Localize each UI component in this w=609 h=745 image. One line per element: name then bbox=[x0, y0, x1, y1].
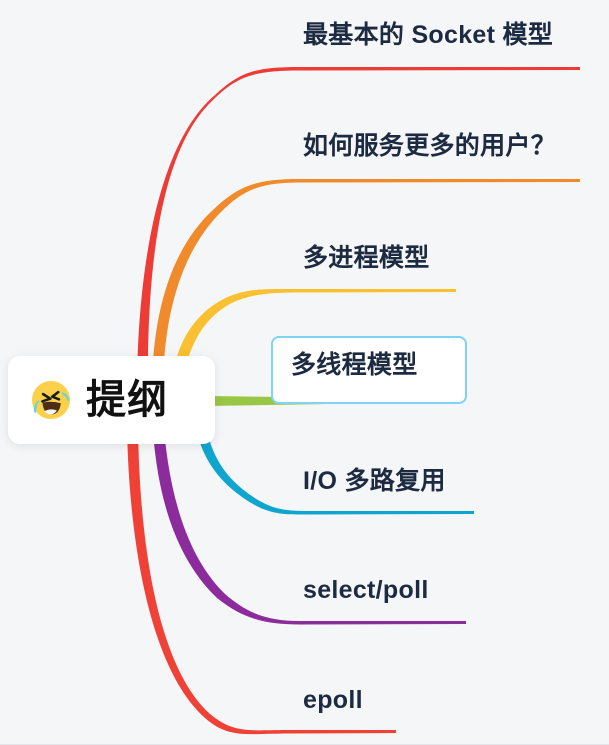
mindmap-node-multi-thread-model-selected[interactable]: 多线程模型 bbox=[271, 336, 467, 404]
mindmap-node-select-poll[interactable]: select/poll bbox=[303, 577, 429, 605]
mindmap-node-multi-process-model[interactable]: 多进程模型 bbox=[303, 245, 430, 273]
mindmap-root-node[interactable]: 提纲 bbox=[8, 356, 215, 444]
mindmap-canvas[interactable]: 最基本的 Socket 模型 如何服务更多的用户？ 多进程模型 多线程模型 I/… bbox=[0, 0, 609, 745]
branch-curve-5 bbox=[194, 415, 474, 515]
mindmap-node-epoll[interactable]: epoll bbox=[303, 687, 363, 715]
mindmap-node-io-multiplexing[interactable]: I/O 多路复用 bbox=[303, 468, 446, 496]
mindmap-node-socket-model[interactable]: 最基本的 Socket 模型 bbox=[303, 22, 553, 50]
mindmap-node-multi-thread-model-label: 多线程模型 bbox=[273, 338, 465, 396]
mindmap-node-serve-more-users[interactable]: 如何服务更多的用户？ bbox=[303, 133, 556, 161]
rolling-on-the-floor-laughing-emoji bbox=[30, 379, 72, 421]
mindmap-root-title: 提纲 bbox=[86, 380, 168, 420]
